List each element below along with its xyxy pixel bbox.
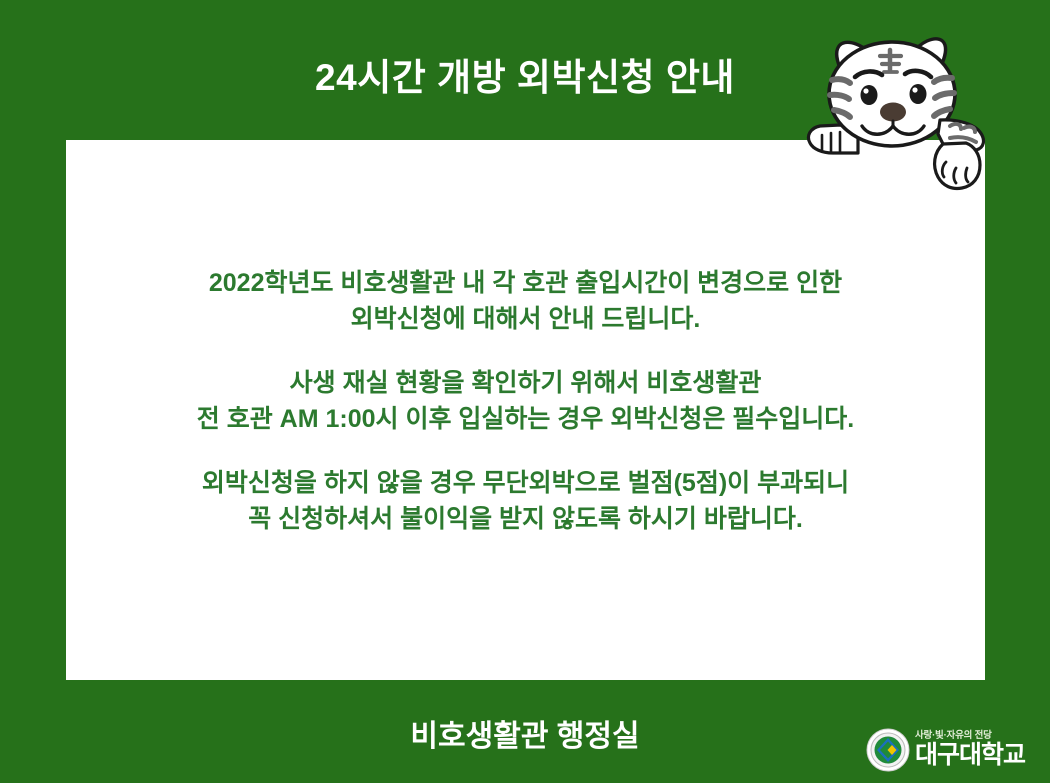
notice-body: 2022학년도 비호생활관 내 각 호관 출입시간이 변경으로 인한 외박신청에… bbox=[66, 265, 985, 537]
university-wordmark: 사랑·빛·자유의 전당 대구대학교 bbox=[915, 731, 1025, 768]
university-seal-icon bbox=[866, 728, 910, 772]
notice-paragraph-3: 외박신청을 하지 않을 경우 무단외박으로 벌점(5점)이 부과되니 꼭 신청하… bbox=[66, 465, 985, 537]
tiger-mascot-icon bbox=[800, 22, 1024, 207]
notice-paragraph-1: 2022학년도 비호생활관 내 각 호관 출입시간이 변경으로 인한 외박신청에… bbox=[66, 265, 985, 337]
notice-paragraph-2: 사생 재실 현황을 확인하기 위해서 비호생활관 전 호관 AM 1:00시 이… bbox=[66, 365, 985, 437]
notice-poster: 24시간 개방 외박신청 안내 2022학년도 비호생활관 내 각 호관 출입시… bbox=[0, 0, 1050, 783]
university-logo: 사랑·빛·자유의 전당 대구대학교 bbox=[866, 722, 1042, 777]
notice-card: 2022학년도 비호생활관 내 각 호관 출입시간이 변경으로 인한 외박신청에… bbox=[66, 140, 985, 680]
university-tagline: 사랑·빛·자유의 전당 bbox=[915, 731, 1025, 741]
university-name: 대구대학교 bbox=[915, 743, 1025, 768]
